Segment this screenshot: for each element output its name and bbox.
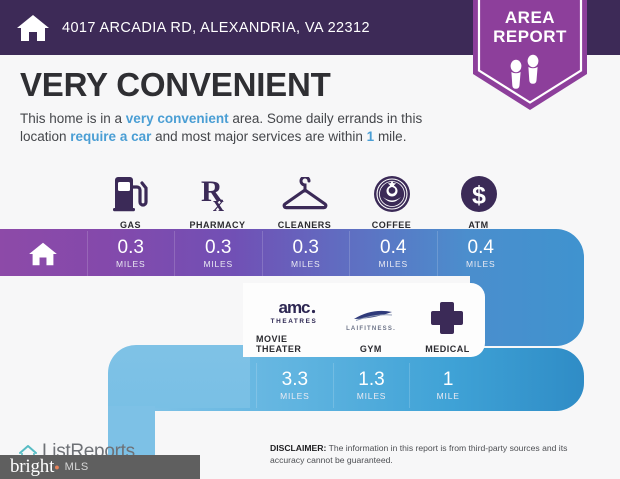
distance-value: 0.3 [293,238,319,258]
badge-line-2: REPORT [473,27,587,46]
bright-mls-watermark: bright ● MLS [0,455,200,479]
dollar-icon: $ [460,173,498,215]
category-label: GYM [360,344,382,354]
intro-text-1: This home is in a [20,111,126,126]
category-cleaners: CLEANERS [261,166,348,230]
gas-pump-icon [112,173,150,215]
category-icon-row-2: amc THEATRES MOVIE THEATER LAIFITNESS. G… [256,292,486,354]
category-label: PHARMACY [189,220,245,230]
distance-cell-gym: 1.3 MILES [333,363,410,408]
category-label: GAS [120,220,141,230]
distance-unit: MILES [116,259,146,269]
trademark-mark: ● [54,462,59,472]
property-address: 4017 ARCADIA RD, ALEXANDRIA, VA 22312 [62,20,370,36]
distance-value: 0.4 [468,238,494,258]
mls-name: MLS [65,461,89,473]
category-icon-row-1: GAS R x PHARMACY CLEANERS [87,166,527,230]
badge-line-1: AREA [473,8,587,27]
badge-label: AREA REPORT [473,8,587,46]
category-label: ATM [468,220,488,230]
svg-text:LAIFITNESS.: LAIFITNESS. [346,326,396,332]
disclaimer: DISCLAIMER: The information in this repo… [270,443,590,466]
distance-value: 1.3 [358,370,384,390]
home-marker [0,231,87,276]
category-movie-theater: amc THEATRES MOVIE THEATER [256,292,333,354]
bright-name: bright [10,456,54,478]
distance-unit: MILES [203,259,233,269]
distance-value: 0.3 [205,238,231,258]
distance-cell-gas: 0.3 MILES [87,231,175,276]
medical-cross-icon [429,297,465,339]
distance-unit: MILES [291,259,321,269]
svg-text:$: $ [472,182,486,210]
category-atm: $ ATM [435,166,522,230]
distance-cell-cleaners: 0.3 MILES [262,231,350,276]
home-icon [16,13,50,43]
page-title: VERY CONVENIENT [20,66,331,104]
intro-text-3: and most major services are within [151,129,366,144]
distance-cell-atm: 0.4 MILES [437,231,525,276]
distance-row-2: 3.3 MILES 1.3 MILES 1 MILE [256,363,486,408]
distance-row-1: 0.3 MILES 0.3 MILES 0.3 MILES 0.4 MILES … [0,231,524,276]
distance-unit: MILES [378,259,408,269]
rx-icon: R x [200,173,236,215]
distance-cell-coffee: 0.4 MILES [349,231,437,276]
area-report-infographic: 4017 ARCADIA RD, ALEXANDRIA, VA 22312 AR… [0,0,620,479]
area-report-badge: AREA REPORT [473,0,587,110]
category-label: MOVIE THEATER [256,334,333,354]
category-label: MEDICAL [425,344,470,354]
distance-value: 1 [443,370,454,390]
distance-cell-pharmacy: 0.3 MILES [174,231,262,276]
distance-unit: MILES [466,259,496,269]
category-gas: GAS [87,166,174,230]
svg-text:x: x [213,191,224,213]
distance-unit: MILES [357,391,387,401]
category-label: COFFEE [372,220,412,230]
category-coffee: COFFEE [348,166,435,230]
distance-cell-movie-theater: 3.3 MILES [256,363,333,408]
distance-value: 0.4 [380,238,406,258]
intro-highlight-1: very convenient [126,111,229,126]
intro-paragraph: This home is in a very convenient area. … [20,110,450,146]
distance-value: 3.3 [282,370,308,390]
category-medical: MEDICAL [409,292,486,354]
svg-text:amc: amc [279,298,311,317]
la-fitness-icon: LAIFITNESS. [340,297,402,339]
svg-text:THEATRES: THEATRES [271,318,318,325]
distance-unit: MILE [437,391,460,401]
home-icon [28,241,58,267]
intro-highlight-2: require a car [70,129,151,144]
disclaimer-label: DISCLAIMER: [270,443,326,453]
category-pharmacy: R x PHARMACY [174,166,261,230]
hanger-icon [282,173,328,215]
starbucks-icon [373,173,411,215]
amc-theatres-icon: amc THEATRES [266,292,322,329]
intro-text-4: mile. [374,129,406,144]
distance-cell-medical: 1 MILE [409,363,486,408]
distance-unit: MILES [280,391,310,401]
distance-value: 0.3 [118,238,144,258]
category-gym: LAIFITNESS. GYM [333,292,410,354]
category-label: CLEANERS [278,220,332,230]
